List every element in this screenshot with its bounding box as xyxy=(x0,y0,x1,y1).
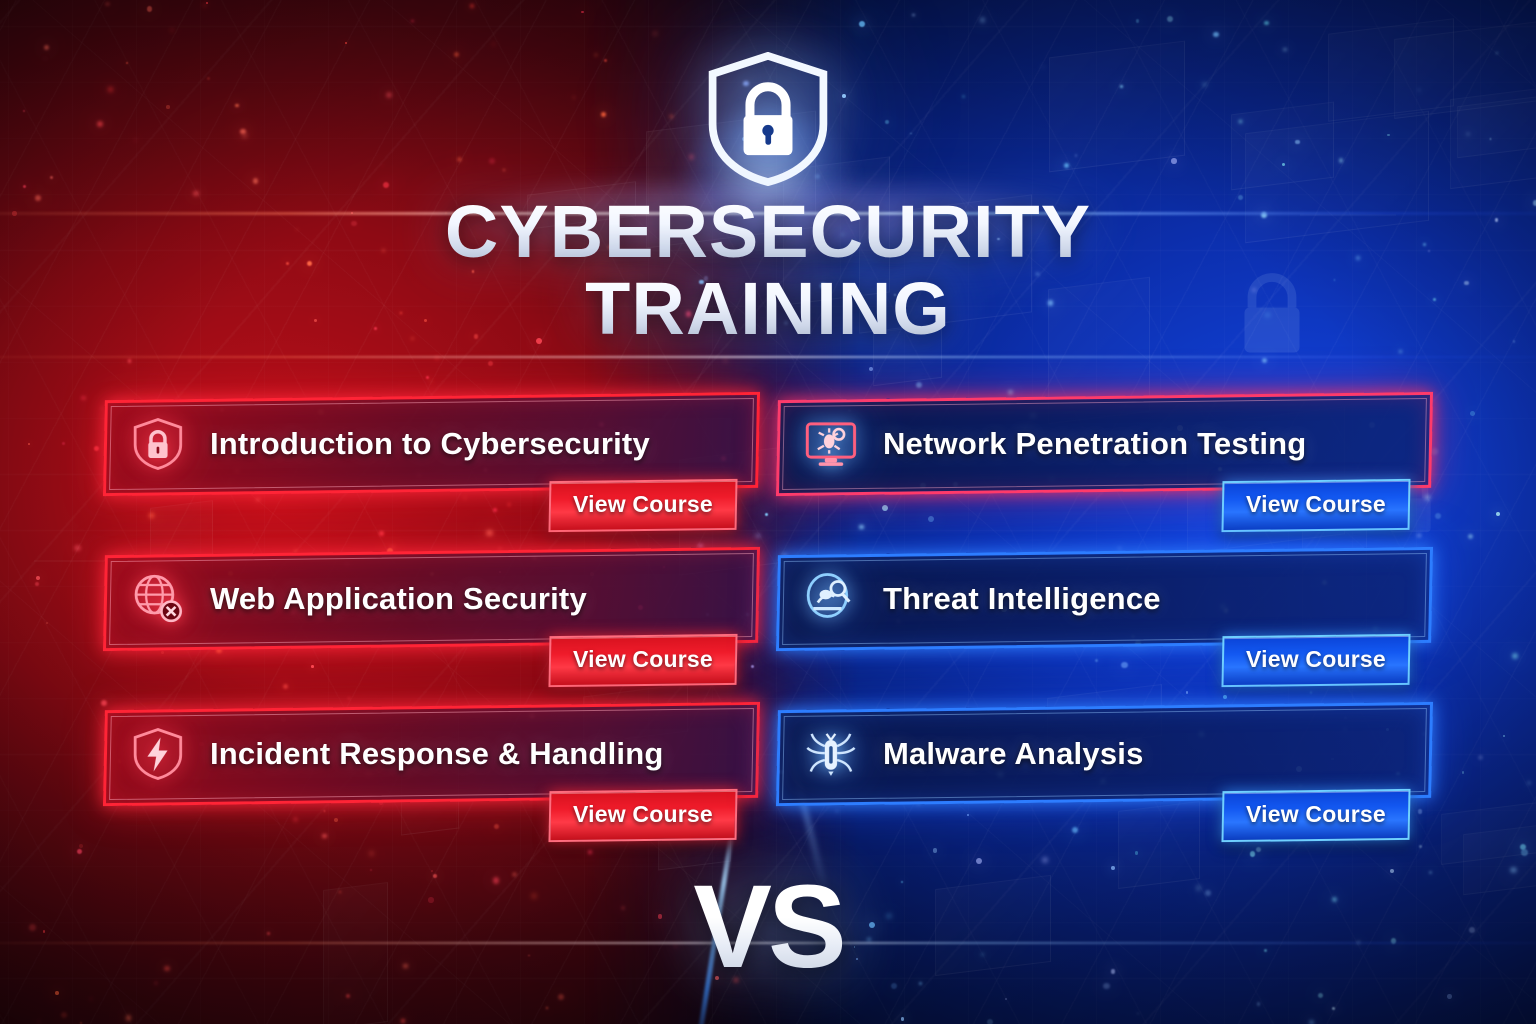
view-course-label: View Course xyxy=(573,646,713,673)
course-card-incident-response-handling[interactable]: Incident Response & Handling View Course xyxy=(104,706,759,848)
view-course-button[interactable]: View Course xyxy=(549,634,738,687)
course-title: Web Application Security xyxy=(210,581,587,617)
course-card-network-penetration-testing[interactable]: Network Penetration Testing View Course xyxy=(777,396,1432,538)
shield-lock-icon xyxy=(702,52,834,186)
title-line-1: CYBERSECURITY xyxy=(0,196,1536,269)
magnifier-globe-icon xyxy=(803,571,859,627)
shield-bolt-icon xyxy=(130,726,186,782)
shield-lock-icon xyxy=(130,416,186,472)
monitor-bug-icon xyxy=(803,416,859,472)
view-course-button[interactable]: View Course xyxy=(549,789,738,842)
poster-canvas: CYBERSECURITY TRAINING Introduction to C… xyxy=(0,0,1536,1024)
view-course-label: View Course xyxy=(1246,491,1386,518)
course-grid: Introduction to Cybersecurity View Cours… xyxy=(0,396,1536,848)
course-card-web-application-security[interactable]: Web Application Security View Course xyxy=(104,551,759,693)
course-title: Malware Analysis xyxy=(883,736,1144,772)
view-course-button[interactable]: View Course xyxy=(1222,789,1411,842)
course-title: Network Penetration Testing xyxy=(883,426,1306,462)
course-card-introduction-to-cybersecurity[interactable]: Introduction to Cybersecurity View Cours… xyxy=(104,396,759,538)
page-title: CYBERSECURITY TRAINING xyxy=(0,196,1536,345)
view-course-label: View Course xyxy=(1246,801,1386,828)
view-course-label: View Course xyxy=(1246,646,1386,673)
view-course-label: View Course xyxy=(573,801,713,828)
title-line-2: TRAINING xyxy=(0,273,1536,346)
course-card-malware-analysis[interactable]: Malware Analysis View Course xyxy=(777,706,1432,848)
view-course-button[interactable]: View Course xyxy=(549,479,738,532)
course-title: Threat Intelligence xyxy=(883,581,1161,617)
view-course-button[interactable]: View Course xyxy=(1222,634,1411,687)
view-course-label: View Course xyxy=(573,491,713,518)
vs-label: VS xyxy=(693,868,842,986)
view-course-button[interactable]: View Course xyxy=(1222,479,1411,532)
course-title: Incident Response & Handling xyxy=(210,736,664,772)
globe-blocked-icon xyxy=(130,571,186,627)
course-card-threat-intelligence[interactable]: Threat Intelligence View Course xyxy=(777,551,1432,693)
course-title: Introduction to Cybersecurity xyxy=(210,426,650,462)
spider-bug-icon xyxy=(803,726,859,782)
